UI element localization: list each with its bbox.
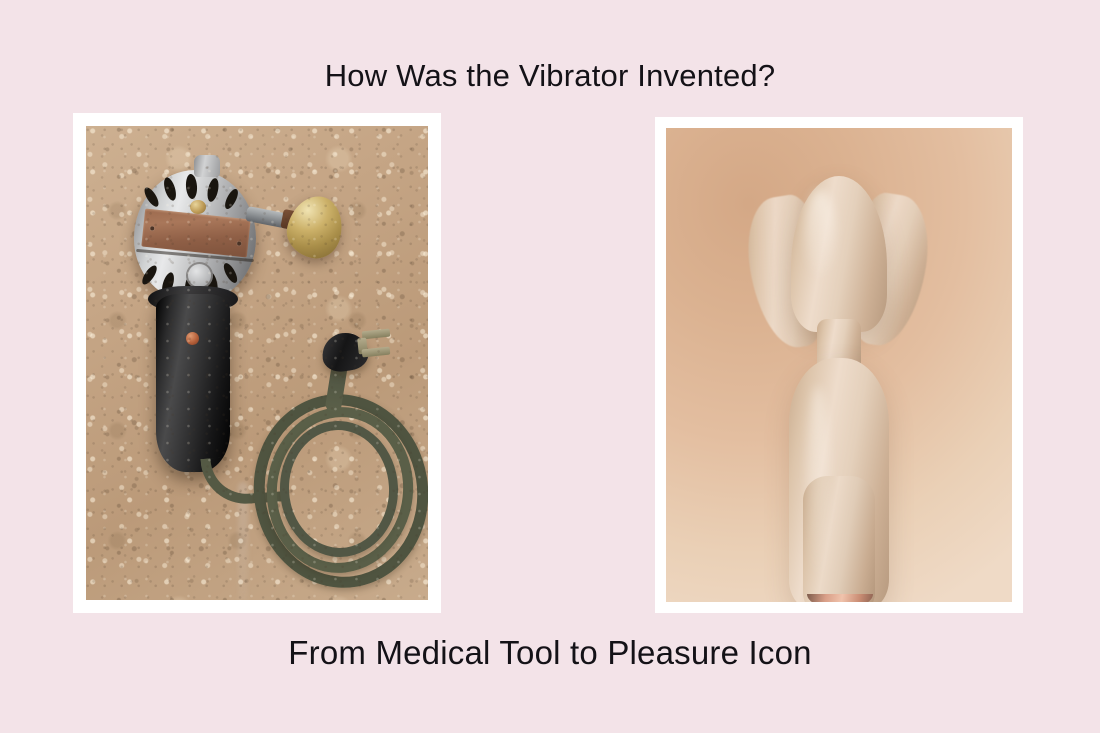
housing-top-nub [194, 155, 220, 177]
lower-port [186, 262, 213, 289]
page-subtitle: From Medical Tool to Pleasure Icon [0, 634, 1100, 672]
vintage-vibrator-photo-frame [73, 113, 441, 613]
wand-base-accent [807, 594, 873, 602]
vent-slot [162, 176, 179, 202]
article-banner: How Was the Vibrator Invented? [0, 0, 1100, 733]
plug-pin [362, 347, 391, 358]
motor-housing [134, 170, 256, 302]
vent-slot [206, 177, 221, 203]
bakelite-handle [156, 294, 230, 472]
brass-knob [282, 191, 349, 264]
modern-wand-photo-frame [655, 117, 1023, 613]
vent-slot [142, 185, 161, 208]
power-button [186, 332, 199, 345]
wand-vibrator [729, 176, 949, 602]
vent-slot [221, 261, 240, 285]
modern-wand-photo [666, 128, 1012, 602]
band-rivet [150, 226, 154, 230]
vintage-vibrator-photo [86, 126, 428, 600]
band-rivet [237, 241, 241, 245]
wand-body-highlight [807, 386, 829, 576]
vent-slot [185, 174, 198, 200]
vent-slot [140, 263, 160, 286]
vent-slot [222, 187, 240, 211]
wand-head-highlight [805, 190, 835, 276]
page-title: How Was the Vibrator Invented? [0, 58, 1100, 94]
brass-bearing-dot [190, 200, 206, 214]
